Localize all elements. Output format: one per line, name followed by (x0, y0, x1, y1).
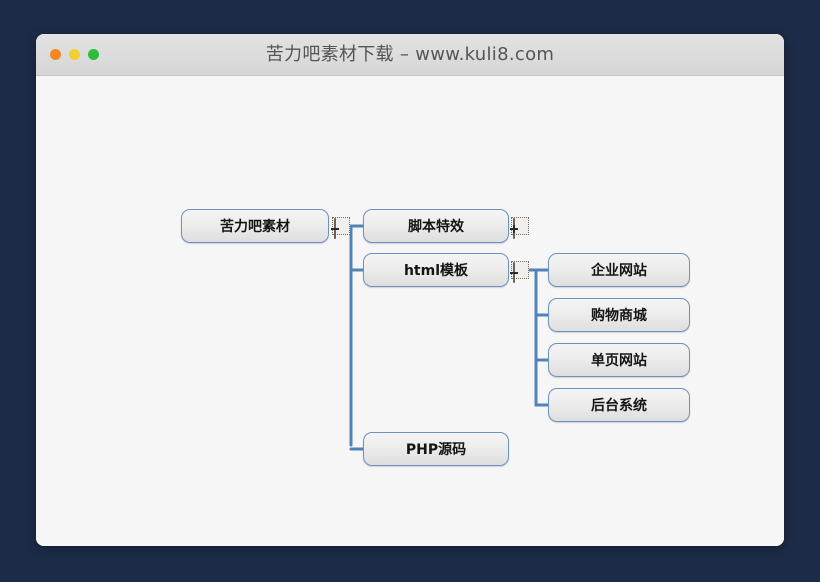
window-titlebar: 苦力吧素材下载 – www.kuli8.com (36, 34, 784, 76)
tree-node-leaf-4[interactable]: 后台系统 (548, 388, 690, 422)
tree-node-branch-2-label: html模板 (404, 260, 468, 280)
tree-node-leaf-3-label: 单页网站 (591, 350, 647, 370)
tree-node-branch-3-label: PHP源码 (406, 439, 466, 459)
tree-node-branch-3[interactable]: PHP源码 (363, 432, 509, 466)
minus-icon (334, 218, 336, 239)
toggle-branch-1-expand[interactable] (511, 217, 529, 235)
tree-canvas: 苦力吧素材 脚本特效 html模板 PHP源码 企业网站 购物商城 (36, 76, 784, 546)
window-title: 苦力吧素材下载 – www.kuli8.com (36, 34, 784, 75)
tree-node-leaf-4-label: 后台系统 (591, 395, 647, 415)
tree-node-leaf-1[interactable]: 企业网站 (548, 253, 690, 287)
tree-node-root-label: 苦力吧素材 (220, 216, 290, 236)
tree-node-branch-1[interactable]: 脚本特效 (363, 209, 509, 243)
browser-window: 苦力吧素材下载 – www.kuli8.com (36, 34, 784, 546)
tree-node-branch-2[interactable]: html模板 (363, 253, 509, 287)
minus-icon (513, 262, 515, 283)
tree-node-leaf-3[interactable]: 单页网站 (548, 343, 690, 377)
toggle-branch-2-collapse[interactable] (511, 261, 529, 279)
toggle-root-collapse[interactable] (332, 217, 350, 235)
tree-node-leaf-1-label: 企业网站 (591, 260, 647, 280)
tree-node-leaf-2-label: 购物商城 (591, 305, 647, 325)
tree-node-root[interactable]: 苦力吧素材 (181, 209, 329, 243)
plus-icon (513, 218, 515, 239)
tree-node-leaf-2[interactable]: 购物商城 (548, 298, 690, 332)
tree-node-branch-1-label: 脚本特效 (408, 216, 464, 236)
